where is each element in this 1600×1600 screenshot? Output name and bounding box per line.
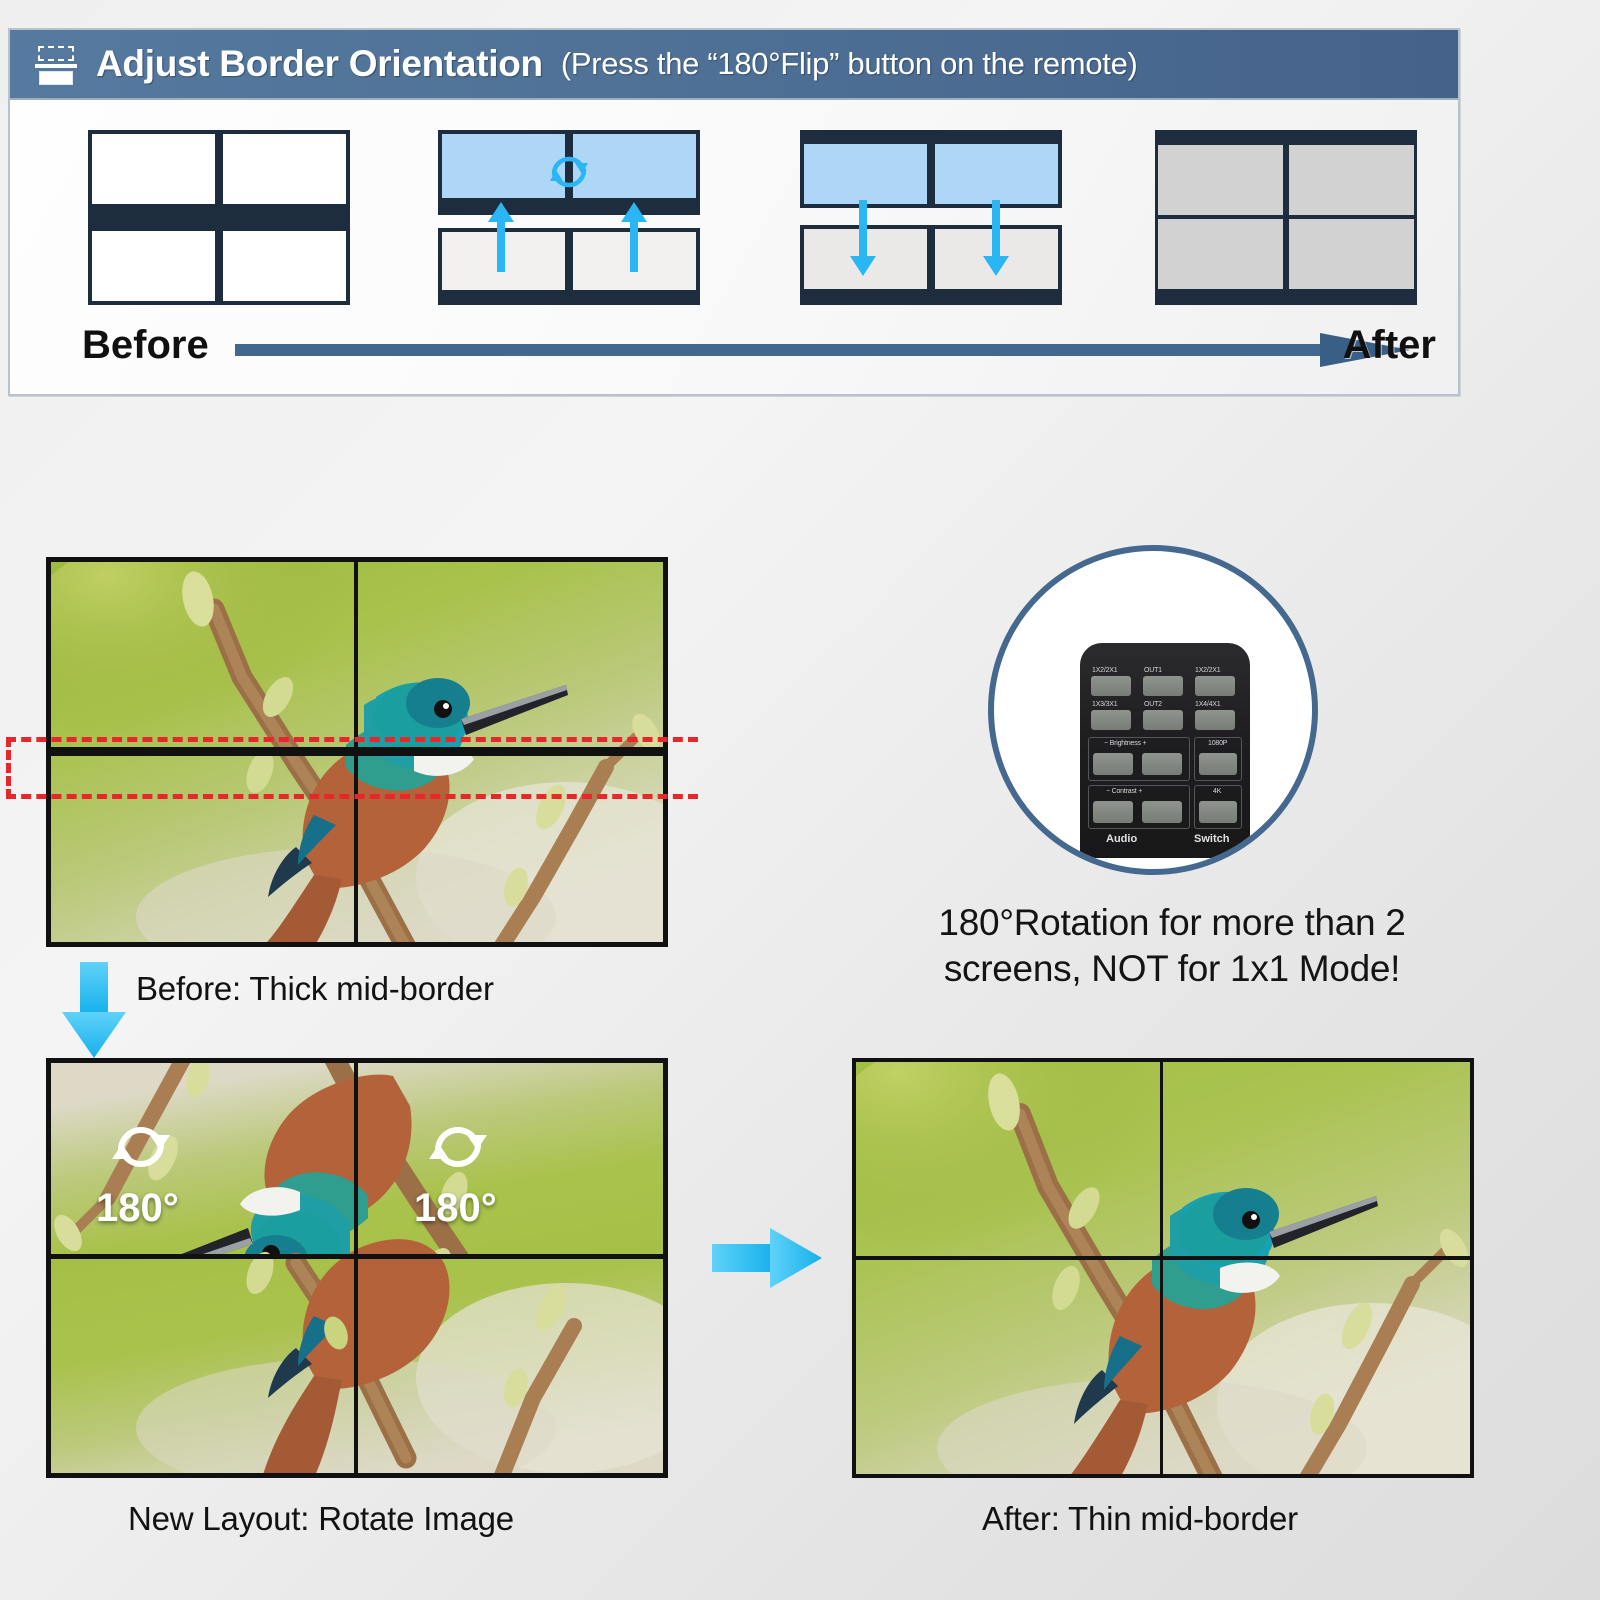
screen-stack-icon	[34, 42, 78, 86]
before-after-strip: Before After	[10, 305, 1458, 385]
remote-button-2[interactable]	[1195, 676, 1235, 696]
panel-header: Adjust Border Orientation (Press the “18…	[10, 30, 1458, 100]
progress-arrow-icon	[235, 333, 1410, 367]
new-layout-video-wall: 180° 180°	[46, 1058, 668, 1478]
after-video-wall	[852, 1058, 1474, 1478]
panel-subtitle: (Press the “180°Flip” button on the remo…	[561, 46, 1138, 82]
remote-body: 1X2/2X1 OUT1 1X2/2X1 1X3/3X1 OUT2 1X4/4X…	[1080, 643, 1250, 858]
diagram-step-after-grid	[1155, 130, 1417, 305]
res-1080p-label: 1080P	[1208, 740, 1227, 747]
diagram-step-lift-top-row	[438, 130, 700, 305]
switch-label: Switch	[1194, 833, 1229, 845]
video-wall-border	[46, 1058, 668, 1478]
panel-body: Before After	[10, 100, 1458, 398]
remote-label-4: OUT2	[1144, 701, 1162, 708]
audio-label: Audio	[1106, 833, 1137, 845]
res-4k-label: 4K	[1213, 788, 1221, 795]
video-wall-border	[852, 1058, 1474, 1478]
brightness-plus-button[interactable]	[1142, 753, 1182, 775]
new-layout-caption: New Layout: Rotate Image	[128, 1500, 514, 1538]
remote-button-0[interactable]	[1091, 676, 1131, 696]
arrow-up-icon-right	[621, 202, 647, 272]
brightness-minus-button[interactable]	[1093, 753, 1133, 775]
panel-title: Adjust Border Orientation	[96, 43, 543, 85]
contrast-label: − Contrast +	[1106, 788, 1142, 795]
diagram-step-before-grid	[88, 130, 350, 305]
product-infographic: Adjust Border Orientation (Press the “18…	[0, 0, 1600, 1600]
res-4k-button[interactable]	[1199, 801, 1237, 823]
remote-button-5[interactable]	[1195, 710, 1235, 730]
after-caption: After: Thin mid-border	[982, 1500, 1298, 1538]
rotation-note-line2: screens, NOT for 1x1 Mode!	[944, 948, 1400, 989]
remote-button-4[interactable]	[1143, 710, 1183, 730]
remote-control-closeup: 1X2/2X1 OUT1 1X2/2X1 1X3/3X1 OUT2 1X4/4X…	[988, 545, 1318, 875]
contrast-plus-button[interactable]	[1142, 801, 1182, 823]
res-1080p-button[interactable]	[1199, 753, 1237, 775]
remote-label-3: 1X3/3X1	[1092, 701, 1117, 708]
rotation-note-line1: 180°Rotation for more than 2	[938, 902, 1405, 943]
remote-label-2: 1X2/2X1	[1195, 667, 1220, 674]
brightness-label: − Brightness +	[1104, 740, 1146, 747]
before-label: Before	[82, 323, 209, 368]
diagram-step-drop-top-row	[800, 130, 1062, 305]
remote-button-1[interactable]	[1143, 676, 1183, 696]
arrow-down-icon-flow	[62, 962, 126, 1058]
remote-label-5: 1X4/4X1	[1195, 701, 1220, 708]
before-caption: Before: Thick mid-border	[136, 970, 494, 1008]
contrast-minus-button[interactable]	[1093, 801, 1133, 823]
remote-label-0: 1X2/2X1	[1092, 667, 1117, 674]
arrow-down-icon-left	[850, 200, 876, 276]
arrow-down-icon-right	[983, 200, 1009, 276]
rotation-note: 180°Rotation for more than 2 screens, NO…	[852, 900, 1492, 993]
after-label: After	[1343, 323, 1436, 368]
arrow-up-icon-left	[488, 202, 514, 272]
remote-label-1: OUT1	[1144, 667, 1162, 674]
instruction-panel: Adjust Border Orientation (Press the “18…	[8, 28, 1460, 396]
remote-button-3[interactable]	[1091, 710, 1131, 730]
thick-border-highlight	[6, 737, 698, 799]
arrow-right-icon-flow	[712, 1222, 822, 1294]
